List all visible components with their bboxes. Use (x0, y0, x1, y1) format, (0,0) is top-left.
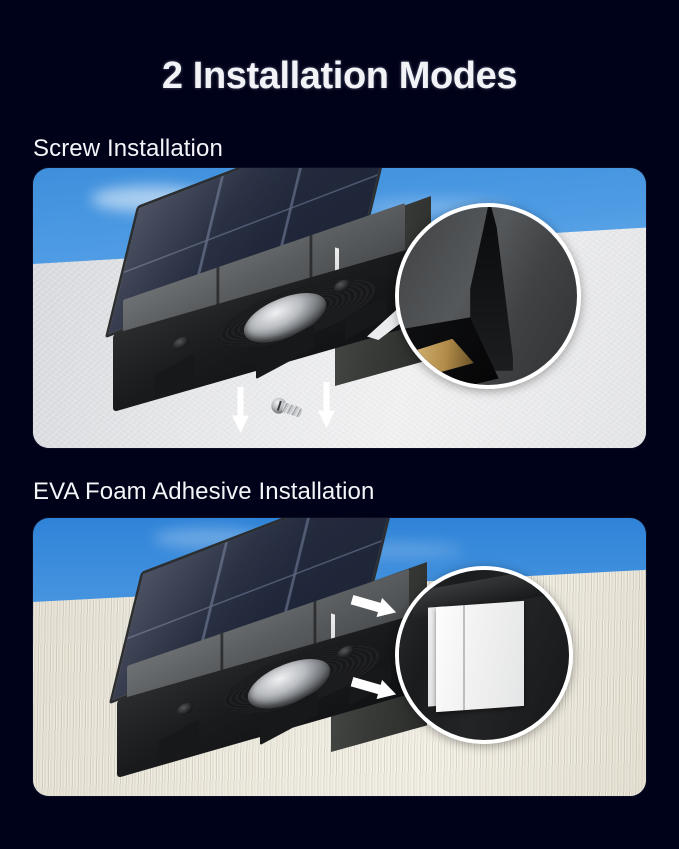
screw-shaft (282, 402, 303, 417)
page-title: 2 Installation Modes (0, 55, 679, 98)
magnifier-inset-eva-foam-pad (395, 566, 573, 744)
eva-foam-adhesive-pad (436, 601, 524, 713)
section-label-eva-foam-adhesive-installation: EVA Foam Adhesive Installation (33, 478, 374, 506)
section-label-screw-installation: Screw Installation (33, 135, 223, 163)
device-tab (155, 354, 195, 397)
screw-hole (173, 336, 189, 352)
photo-panel-screw-installation: solar wall light mounted on white stucco… (33, 168, 646, 448)
screw-hole (177, 702, 193, 718)
magnifier-inset-screw-bracket (395, 203, 581, 389)
photo-panel-eva-foam-adhesive-installation: solar wall light mounted on beige stripe… (33, 518, 646, 796)
infographic-root: 2 Installation Modes Screw Installation (0, 0, 679, 849)
solar-wall-light-eva (105, 562, 427, 778)
device-tab (159, 720, 199, 763)
solar-wall-light-screw (101, 196, 431, 418)
